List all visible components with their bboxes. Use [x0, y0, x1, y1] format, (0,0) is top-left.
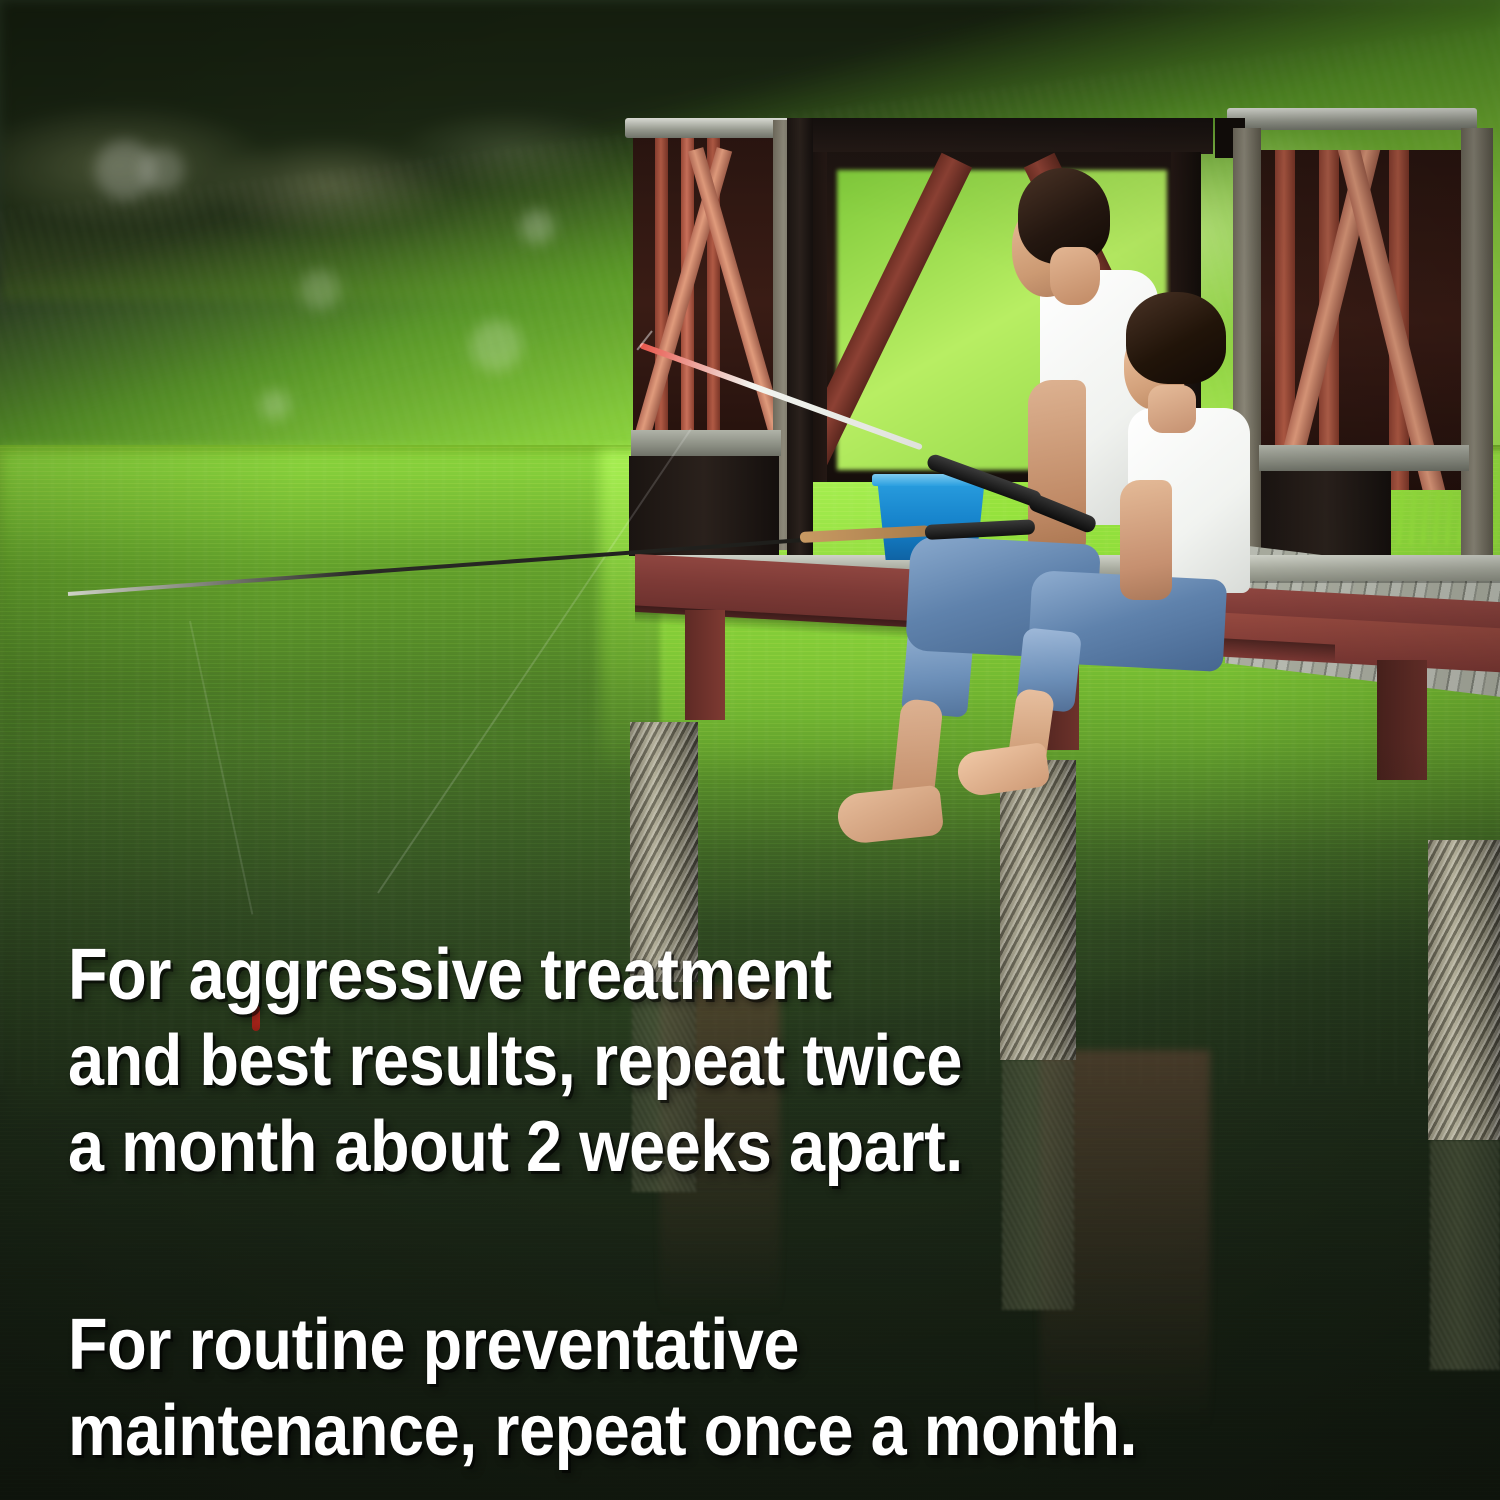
- boy-neck: [1148, 385, 1196, 433]
- piling-reflection: [1430, 1140, 1500, 1370]
- paragraph-routine-maintenance: For routine preventative maintenance, re…: [68, 1302, 1398, 1474]
- rope-wrapped-piling-right: [1428, 840, 1500, 1140]
- paragraph-aggressive-treatment: For aggressive treatment and best result…: [68, 932, 1398, 1190]
- boy-hair: [1126, 292, 1226, 384]
- text-line: a month about 2 weeks apart.: [68, 1104, 1265, 1190]
- paragraph-spacer: [68, 1190, 1398, 1302]
- instruction-text-overlay: For aggressive treatment and best result…: [68, 932, 1398, 1474]
- man-neck: [1050, 247, 1100, 305]
- text-line: and best results, repeat twice: [68, 1018, 1265, 1104]
- text-line: For routine preventative: [68, 1302, 1265, 1388]
- text-line: maintenance, repeat once a month.: [68, 1388, 1265, 1474]
- text-line: For aggressive treatment: [68, 932, 1265, 1018]
- product-lifestyle-image: For aggressive treatment and best result…: [0, 0, 1500, 1500]
- boy-arm: [1120, 480, 1172, 600]
